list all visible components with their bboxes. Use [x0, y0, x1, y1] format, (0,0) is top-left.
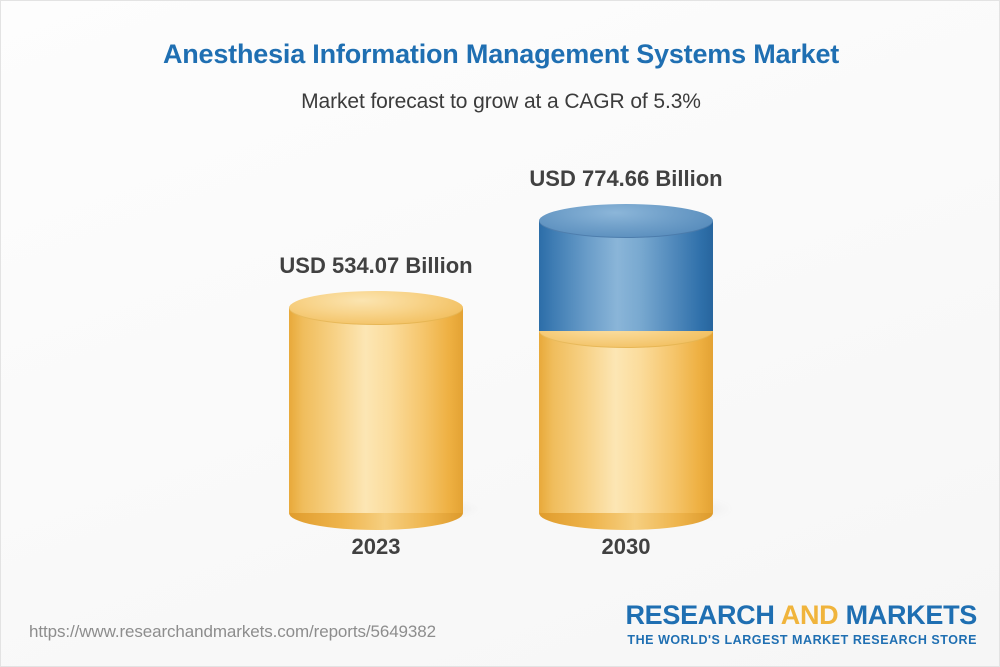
cylinder-2030[interactable] — [539, 204, 713, 513]
value-label-2023: USD 534.07 Billion — [206, 253, 546, 279]
brand-word-and: AND — [781, 600, 839, 630]
value-label-2030: USD 774.66 Billion — [456, 166, 796, 192]
bar-group-2030: USD 774.66 Billion 2030 — [539, 1, 713, 601]
bar-group-2023: USD 534.07 Billion 2023 — [289, 1, 463, 601]
brand-word-markets: MARKETS — [838, 600, 977, 630]
plot-area: USD 534.07 Billion 2023 USD 774.66 Billi… — [1, 1, 1000, 601]
category-label-2030: 2030 — [456, 534, 796, 560]
brand-word-research: RESEARCH — [625, 600, 780, 630]
brand-logo[interactable]: RESEARCH AND MARKETS THE WORLD'S LARGEST… — [625, 602, 977, 647]
chart-canvas: Anesthesia Information Management System… — [0, 0, 1000, 667]
source-url[interactable]: https://www.researchandmarkets.com/repor… — [29, 622, 436, 642]
cylinder-top-2023 — [289, 291, 463, 325]
cylinder-top-2030 — [539, 204, 713, 238]
cylinder-2023[interactable] — [289, 291, 463, 513]
cylinder-body-2030-base — [539, 331, 713, 513]
brand-tagline: THE WORLD'S LARGEST MARKET RESEARCH STOR… — [625, 633, 977, 647]
brand-wordmark: RESEARCH AND MARKETS — [625, 602, 977, 629]
cylinder-body-2023-base — [289, 308, 463, 513]
